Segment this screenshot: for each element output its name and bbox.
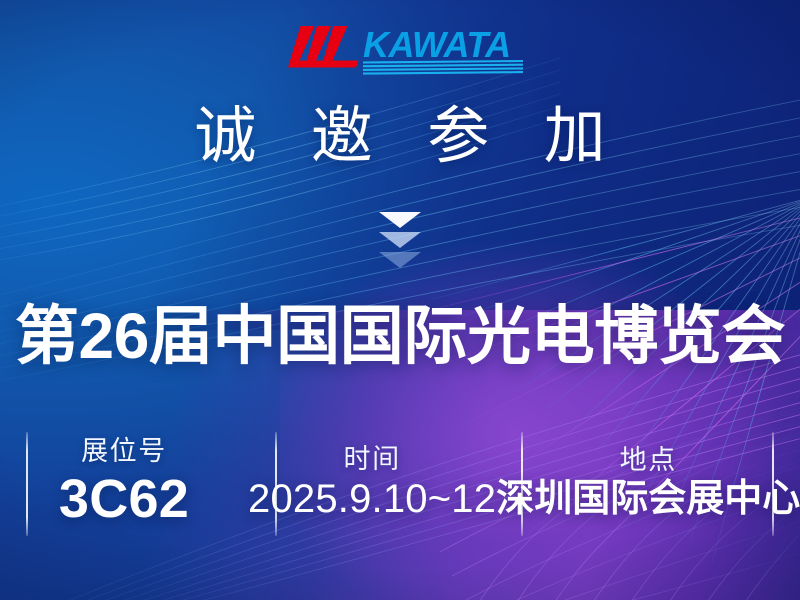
- info-booth-value: 3C62: [59, 471, 189, 527]
- kawata-logo-mark-icon: [288, 26, 359, 68]
- kawata-wordmark: KAWATA: [363, 24, 511, 65]
- event-info-strip: 展位号 3C62 时间 2025.9.10~12 地点 深圳国际会展中心: [0, 424, 800, 542]
- chevron-down-icon-1: [379, 212, 421, 228]
- event-title: 第26届中国国际光电博览会: [0, 304, 800, 368]
- chevron-down-triple-icon: [0, 212, 800, 268]
- info-booth: 展位号 3C62: [0, 424, 248, 542]
- chevron-down-icon-3: [379, 252, 421, 268]
- invitation-banner: KAWATA 诚 邀 参 加 第26届中国国际光电博览会 展位号 3C62: [0, 0, 800, 600]
- info-location: 地点 深圳国际会展中心: [496, 424, 800, 542]
- info-time-label: 时间: [343, 446, 400, 473]
- info-time-value: 2025.9.10~12: [248, 479, 496, 521]
- info-booth-label: 展位号: [81, 438, 167, 465]
- info-location-value: 深圳国际会展中心: [496, 480, 800, 520]
- chevron-down-icon-2: [379, 232, 421, 248]
- invitation-headline: 诚 邀 参 加: [0, 106, 800, 168]
- info-time: 时间 2025.9.10~12: [248, 424, 496, 542]
- info-location-label: 地点: [620, 447, 677, 474]
- kawata-logo: KAWATA: [287, 24, 525, 76]
